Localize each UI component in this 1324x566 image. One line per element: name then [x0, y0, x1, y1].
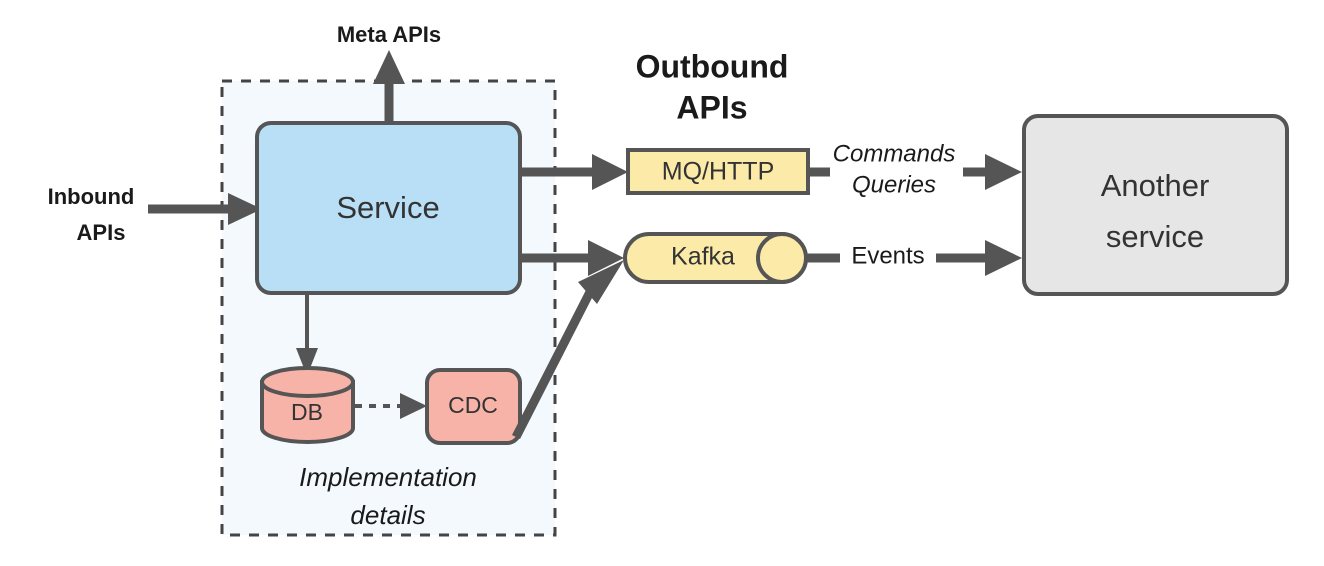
boundary-caption-line1: Implementation [299, 462, 477, 492]
node-another-service[interactable]: Another service [1024, 116, 1287, 294]
outbound-apis-heading-line2: APIs [676, 89, 747, 125]
mq-http-label: MQ/HTTP [662, 158, 775, 186]
queries-label: Queries [852, 171, 936, 198]
node-kafka[interactable]: Kafka [625, 234, 806, 282]
service-label: Service [336, 190, 439, 225]
kafka-end-cap [758, 234, 806, 282]
database-label: DB [291, 399, 323, 425]
diagram-canvas: Inbound APIs Meta APIs Service [0, 0, 1324, 566]
commands-label: Commands [833, 140, 956, 167]
another-service-label-line2: service [1106, 219, 1204, 254]
node-mq-http[interactable]: MQ/HTTP [628, 150, 808, 193]
node-database[interactable]: DB [262, 368, 353, 442]
database-top [262, 368, 353, 396]
kafka-label: Kafka [671, 243, 735, 271]
node-cdc[interactable]: CDC [427, 370, 520, 443]
another-service-label-line1: Another [1101, 168, 1210, 203]
events-label: Events [851, 242, 924, 269]
meta-apis-label: Meta APIs [337, 22, 441, 47]
cdc-label: CDC [448, 392, 498, 418]
node-service[interactable]: Service [257, 123, 520, 293]
another-service-box[interactable] [1024, 116, 1287, 294]
inbound-apis-label-line2: APIs [77, 220, 126, 245]
boundary-caption-line2: details [350, 500, 425, 530]
inbound-apis-label-line1: Inbound [48, 184, 135, 209]
architecture-diagram: Inbound APIs Meta APIs Service [0, 0, 1324, 566]
outbound-apis-heading-line1: Outbound [636, 48, 789, 84]
